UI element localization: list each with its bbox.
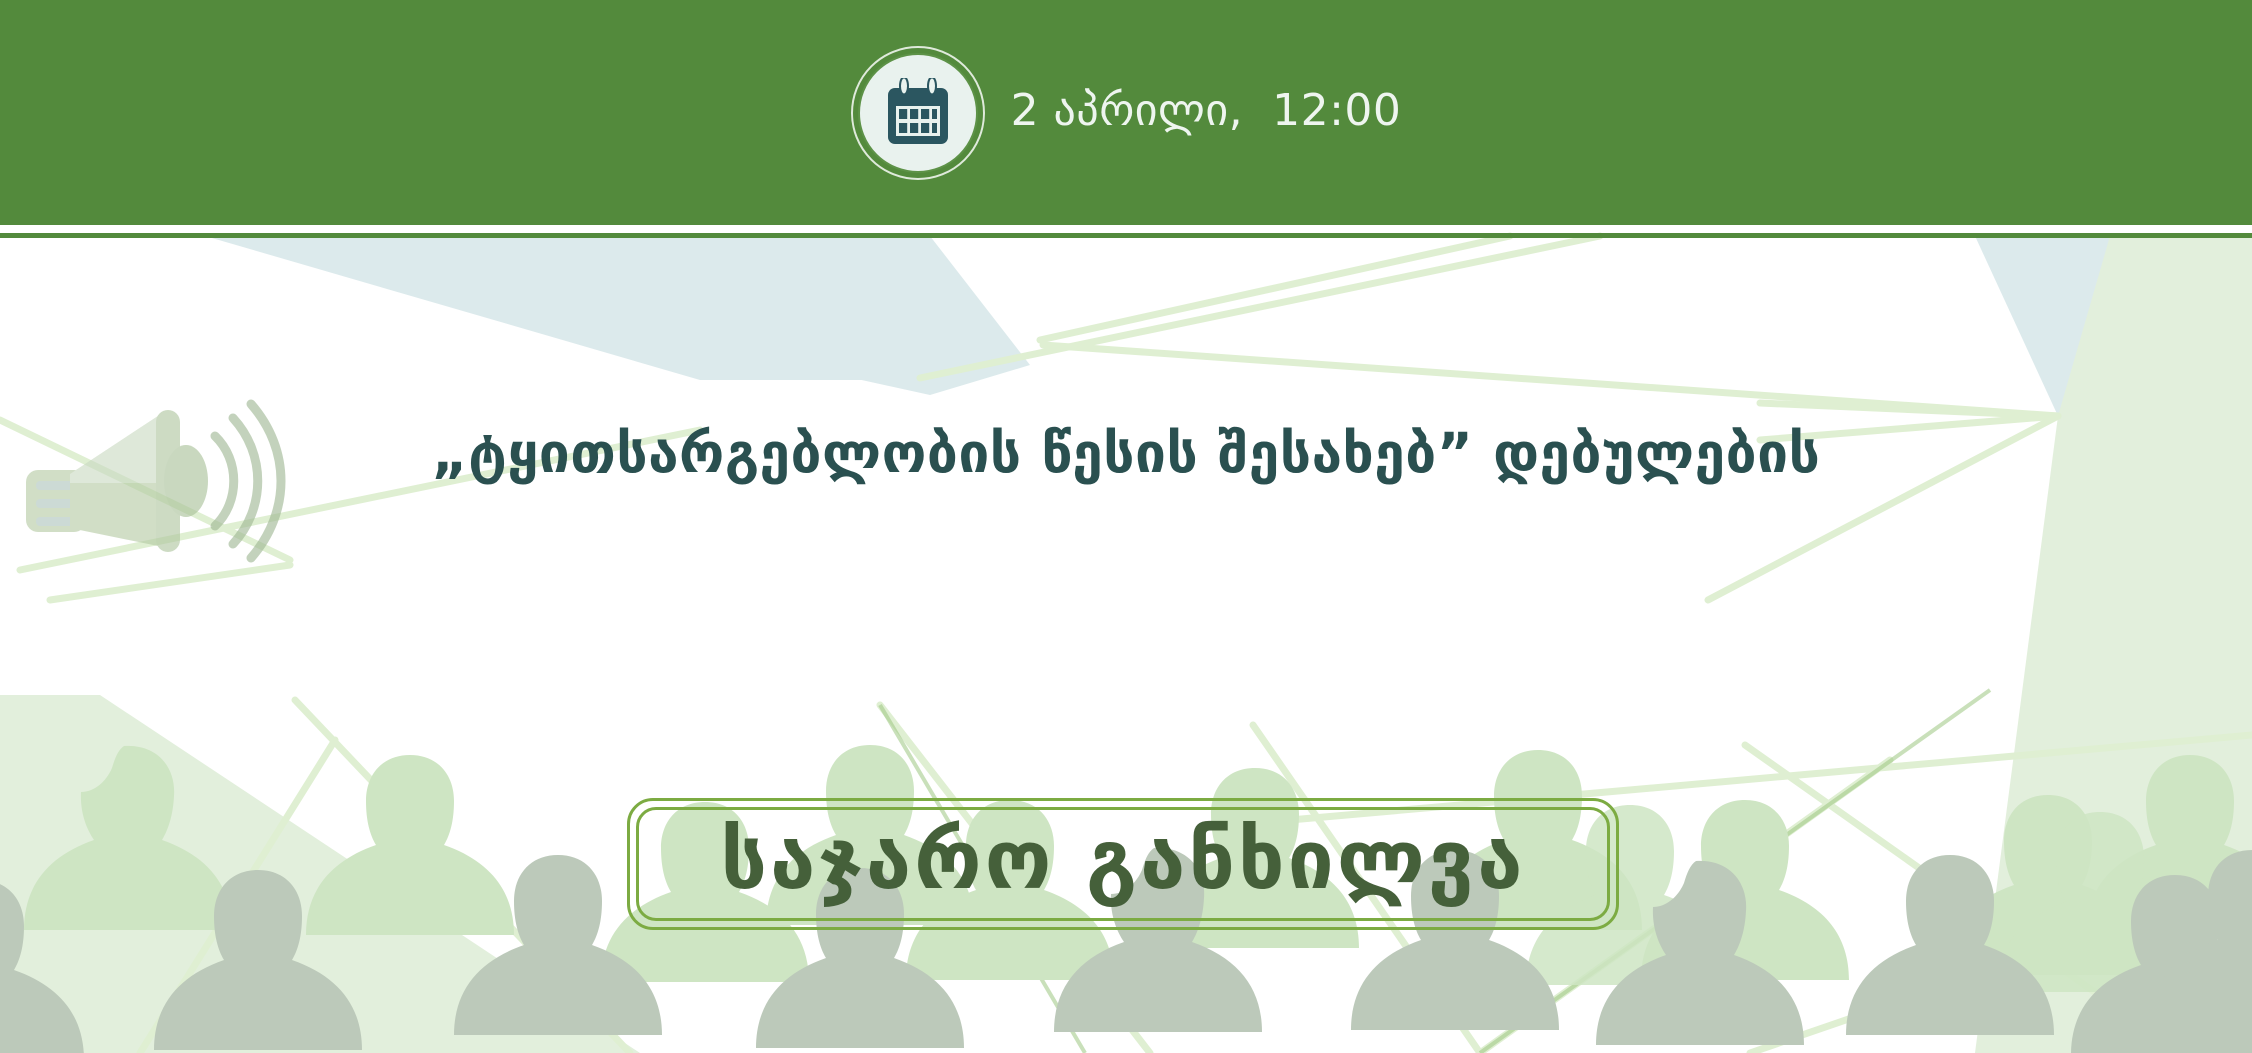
megaphone-bell (164, 445, 208, 517)
announcement-poster: 2 აპრილი, 12:00 „ტყითსარგებლობის წესის შ… (0, 0, 2252, 1053)
header-band: 2 აპრილი, 12:00 (0, 0, 2252, 225)
decor-line-2 (1043, 345, 2058, 416)
calendar-icon (882, 78, 954, 148)
megaphone-waves (215, 404, 281, 558)
calendar-badge (851, 46, 985, 180)
decor-line-6 (1708, 416, 2058, 600)
event-date-time: 2 აპრილი, 12:00 (1011, 89, 1402, 136)
crowd-silhouette (0, 700, 2252, 1053)
decor-line-1 (1040, 236, 1510, 340)
crowd-mid-row (1526, 805, 2204, 992)
megaphone-icon (8, 378, 308, 578)
header-content: 2 აპრილი, 12:00 (0, 0, 2252, 225)
header-divider-rule (0, 233, 2252, 238)
